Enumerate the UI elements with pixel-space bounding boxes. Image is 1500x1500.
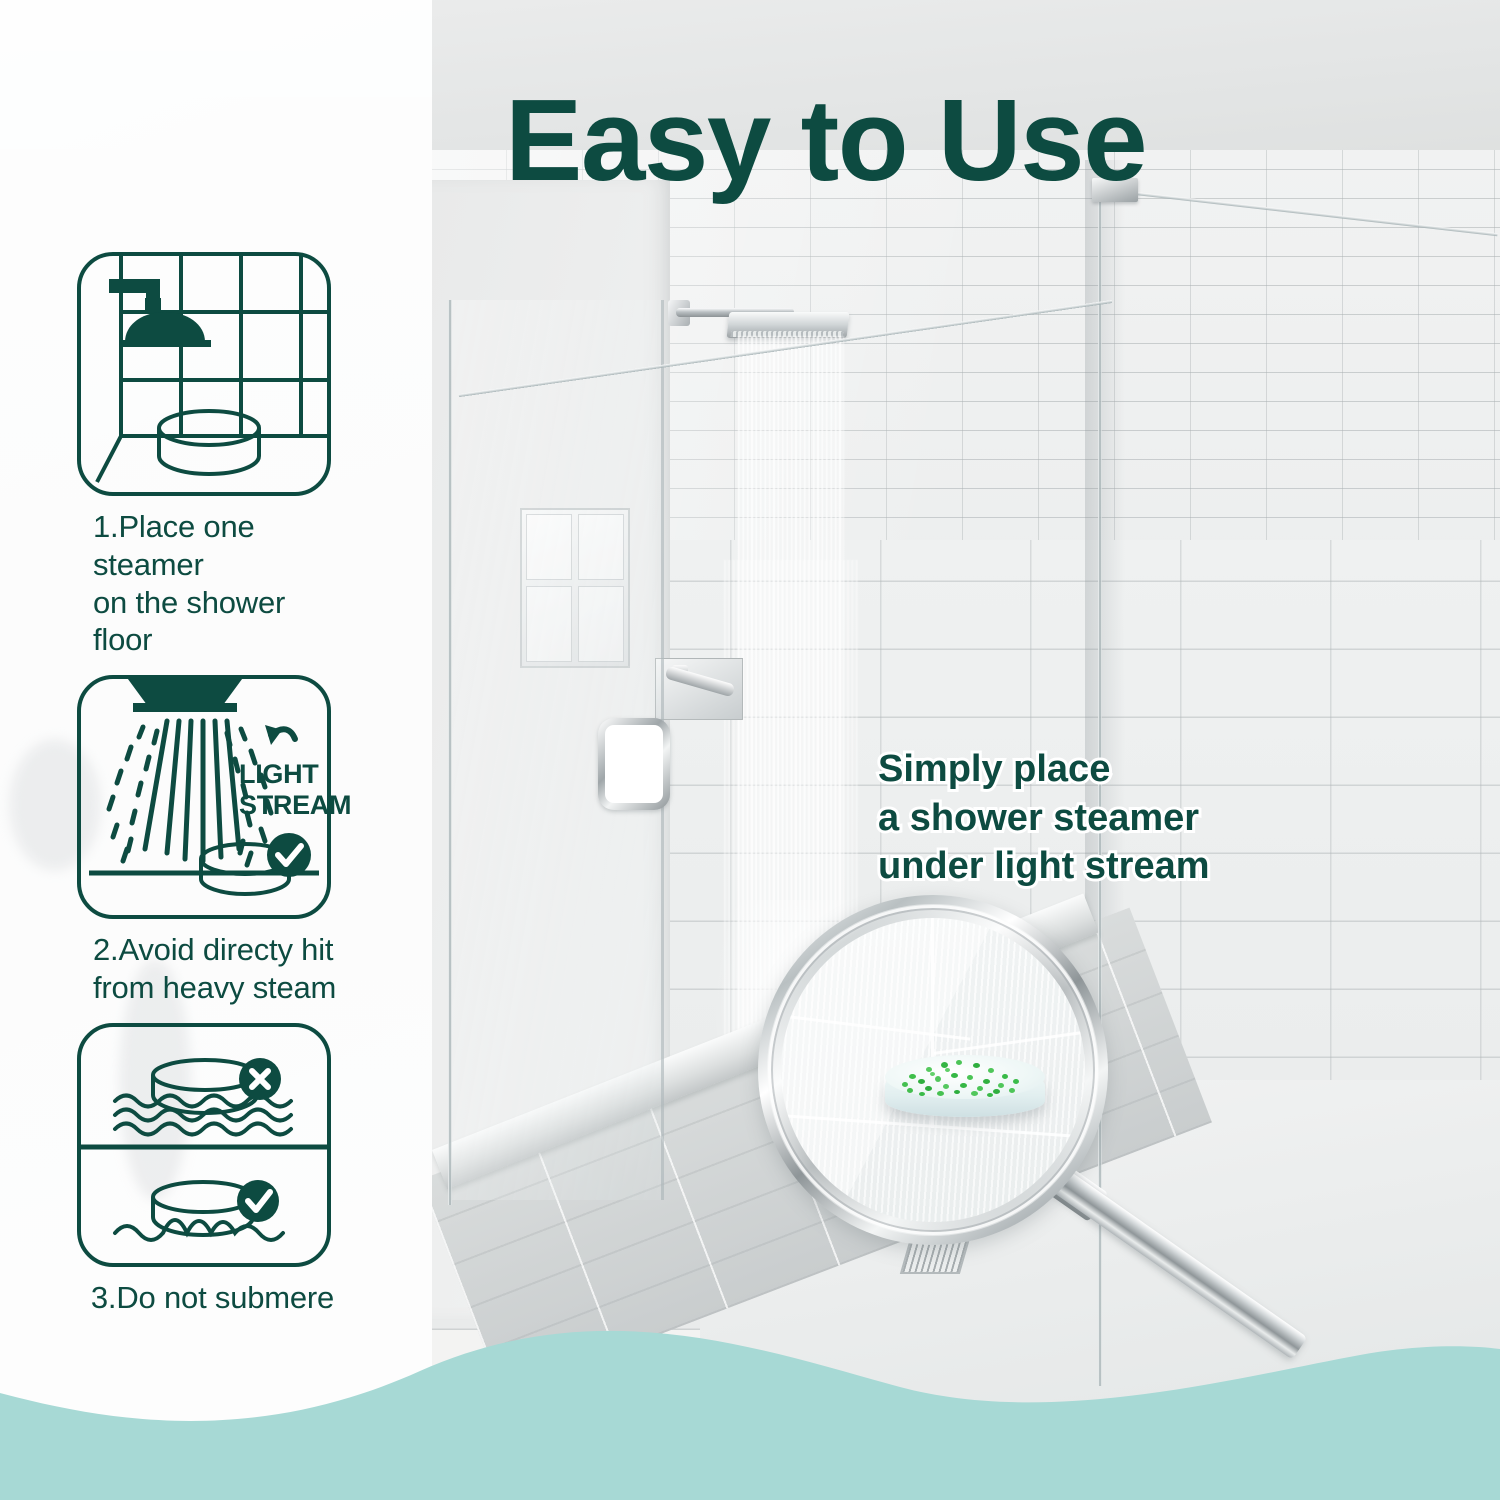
step-3-line-1: 3.Do not submere xyxy=(75,1279,350,1317)
step-2-line-2: from heavy steam xyxy=(93,969,350,1007)
instructions-panel: 1.Place one steamer on the shower floor xyxy=(0,0,432,1500)
step-2-line-1: 2.Avoid directy hit xyxy=(93,931,350,969)
shower-spray-steamer-icon: LIGHT STREAM xyxy=(75,673,333,921)
glass-door-handle-icon[interactable] xyxy=(598,718,670,810)
light-stream-line-2: STREAM xyxy=(239,790,351,821)
glass-edge-left xyxy=(448,300,452,1205)
hero-caption-line-2: a shower steamer xyxy=(878,794,1210,843)
step-1-line-1: 1.Place one steamer xyxy=(93,508,350,584)
step-1-line-2: on the shower floor xyxy=(93,584,350,660)
submerge-compare-icon xyxy=(75,1021,333,1269)
rain-shower-head-icon xyxy=(727,312,850,338)
shower-steamer-tablet xyxy=(885,1055,1045,1125)
bottom-wave-decoration xyxy=(0,1315,1500,1500)
steamer-top-face xyxy=(885,1055,1045,1099)
instruction-step-2: LIGHT STREAM 2.Avoid directy hit from he… xyxy=(75,673,350,1021)
instruction-step-1-caption: 1.Place one steamer on the shower floor xyxy=(75,498,350,673)
hero-caption: Simply place a shower steamer under ligh… xyxy=(878,745,1210,891)
instruction-step-1: 1.Place one steamer on the shower floor xyxy=(75,250,350,673)
product-infographic: 1.Place one steamer on the shower floor xyxy=(0,0,1500,1500)
instruction-step-3: 3.Do not submere xyxy=(75,1021,350,1331)
hero-caption-line-1: Simply place xyxy=(878,745,1210,794)
shower-tile-steamer-icon xyxy=(75,250,333,498)
light-stream-line-1: LIGHT xyxy=(239,759,351,790)
page-title: Easy to Use xyxy=(505,82,1146,198)
light-stream-badge: LIGHT STREAM xyxy=(239,759,351,821)
hero-caption-line-3: under light stream xyxy=(878,842,1210,891)
instruction-step-2-caption: 2.Avoid directy hit from heavy steam xyxy=(75,921,350,1021)
